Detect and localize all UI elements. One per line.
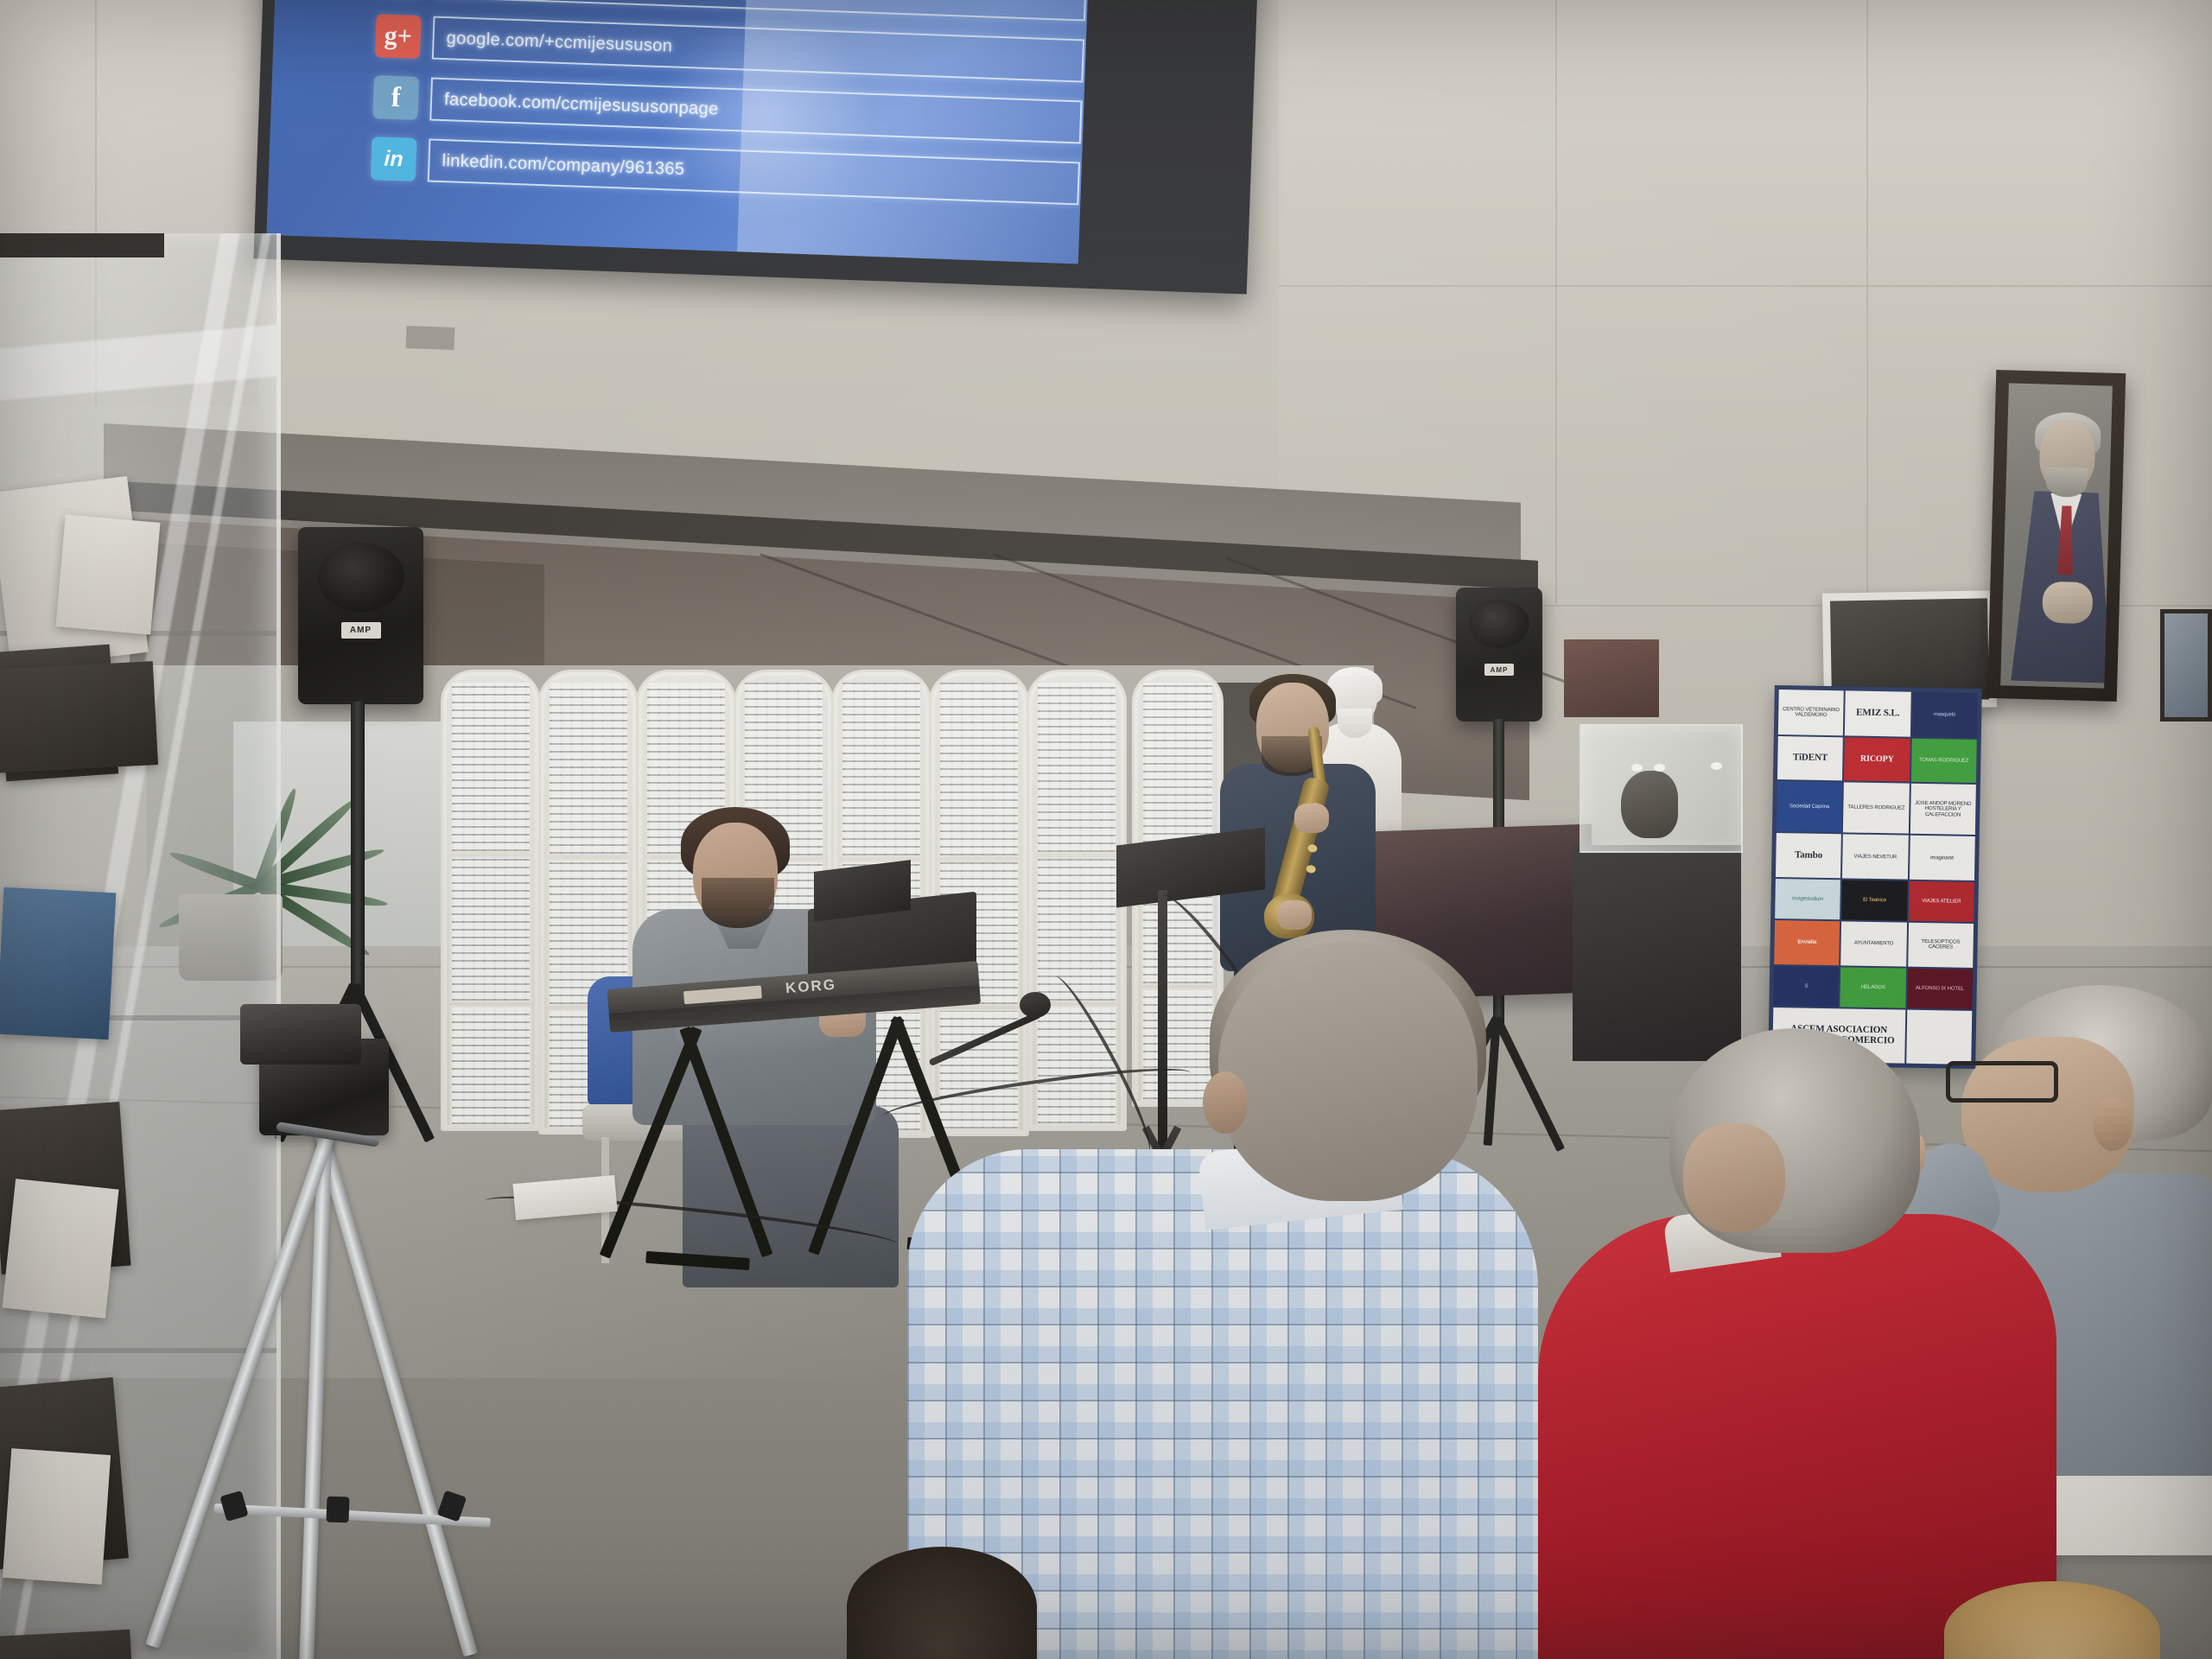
speaker-brand-badge: AMP bbox=[1484, 664, 1514, 676]
audience-woman-red-cardigan bbox=[1538, 1028, 2074, 1659]
linkedin-url-field: linkedin.com/company/961365 bbox=[428, 138, 1080, 205]
sponsor-logo: VIAJES ATELIER bbox=[1909, 881, 1974, 922]
sponsor-logo: imagestudium bbox=[1775, 879, 1840, 919]
wall-plaque bbox=[1564, 639, 1659, 717]
sponsor-logo: AYUNTAMIENTO bbox=[1841, 921, 1907, 967]
sponsor-logo: HELADOS bbox=[1840, 968, 1906, 1008]
speaker-horn bbox=[1469, 600, 1529, 648]
linkedin-icon: in bbox=[371, 137, 417, 181]
social-links-list: Tube youtube.com/ccmijesususon 🐦 @ccmije… bbox=[370, 0, 1089, 218]
googleplus-url-field: google.com/+ccmijesususon bbox=[432, 16, 1084, 83]
video-camera bbox=[240, 1004, 361, 1065]
displayed-artwork bbox=[0, 887, 116, 1040]
audience-man-checked-shirt bbox=[899, 942, 1538, 1659]
small-framed-picture bbox=[2160, 609, 2212, 721]
projection-screen: Tube youtube.com/ccmijesususon 🐦 @ccmije… bbox=[253, 0, 1258, 294]
sculpture bbox=[1621, 771, 1678, 838]
displayed-artwork bbox=[3, 1448, 111, 1585]
sponsor-logo: JOSE ANDOP MORENO HOSTELERIA Y CALEFACCI… bbox=[1910, 784, 1976, 835]
red-cardigan bbox=[1538, 1214, 2056, 1659]
sax-key bbox=[1306, 865, 1316, 874]
sax-player-hand-lower bbox=[1277, 900, 1312, 930]
sponsor-logo: masquelo bbox=[1911, 692, 1977, 738]
displayed-artwork bbox=[56, 514, 161, 634]
speaker-stand-pole-left bbox=[351, 702, 365, 995]
facebook-url-field: facebook.com/ccmijesususonpage bbox=[429, 78, 1082, 144]
small-picture-canvas bbox=[2164, 613, 2208, 717]
pa-speaker-left: AMP bbox=[298, 527, 423, 704]
sax-player-hand-upper bbox=[1294, 804, 1329, 833]
facebook-icon: f bbox=[372, 75, 419, 120]
portrait-canvas bbox=[2000, 383, 2113, 688]
sponsor-logo: S bbox=[1773, 966, 1839, 1007]
glass-vitrine bbox=[1580, 724, 1743, 853]
man-ear bbox=[1203, 1071, 1248, 1134]
speaker-brand-badge: AMP bbox=[341, 622, 381, 639]
sponsor-logo: TELESOPTICOS CACERES bbox=[1908, 922, 1974, 968]
speaker-horn bbox=[318, 543, 404, 612]
sponsor-logo: RICOPY bbox=[1844, 737, 1910, 782]
tripod-leg bbox=[311, 1122, 478, 1657]
sponsor-logo: Envialia bbox=[1774, 920, 1840, 966]
photo-scene: Tube youtube.com/ccmijesususon 🐦 @ccmije… bbox=[0, 0, 2212, 1659]
sponsor-logo: TALLERES RODRIGUEZ bbox=[1843, 783, 1909, 834]
wall-seam bbox=[1555, 0, 1557, 605]
man-head bbox=[1218, 942, 1478, 1201]
sponsor-logo: Sociedad Caprina bbox=[1777, 781, 1842, 832]
case-header-bar bbox=[0, 233, 164, 257]
sponsor-logo: CENTRO VETERINARIO VALDEMORO bbox=[1778, 690, 1844, 735]
woman-face bbox=[1683, 1123, 1785, 1232]
wall-seam bbox=[1866, 0, 1868, 605]
tripod-leg-lock bbox=[326, 1497, 349, 1523]
glass-highlight bbox=[1711, 762, 1722, 770]
portrait-hand bbox=[2042, 582, 2093, 625]
displayed-artwork bbox=[2, 1179, 118, 1319]
displayed-artwork bbox=[0, 661, 158, 773]
glass-highlight bbox=[1631, 764, 1643, 772]
sponsor-logo: EMIZ S.L. bbox=[1845, 690, 1910, 736]
wall-seam bbox=[1279, 285, 2212, 287]
sponsor-logo: El Teatrico bbox=[1841, 880, 1907, 920]
glass-highlight bbox=[1654, 764, 1665, 772]
tripod-leg-lock bbox=[219, 1491, 248, 1522]
audience-dark-head bbox=[847, 1547, 1037, 1659]
pa-speaker-right: AMP bbox=[1456, 588, 1542, 721]
sponsor-logo: TOMAS RODRIGUEZ bbox=[1911, 738, 1977, 783]
man-glasses-ear bbox=[2093, 1097, 2133, 1151]
sponsor-logo: TiDENT bbox=[1777, 736, 1843, 781]
projected-slide: Tube youtube.com/ccmijesususon 🐦 @ccmije… bbox=[266, 0, 1089, 264]
sponsor-logo: VIAJES NEVETUR bbox=[1842, 835, 1908, 880]
googleplus-icon: g+ bbox=[375, 14, 422, 59]
sponsor-logo: Tambo bbox=[1776, 833, 1841, 878]
portrait-painting bbox=[1987, 370, 2126, 702]
camera-tripod bbox=[164, 1020, 570, 1659]
keyboard-player-beard bbox=[702, 878, 774, 928]
sponsor-logo: imaginarte bbox=[1910, 836, 1975, 880]
screen-mount-bracket bbox=[406, 326, 455, 350]
